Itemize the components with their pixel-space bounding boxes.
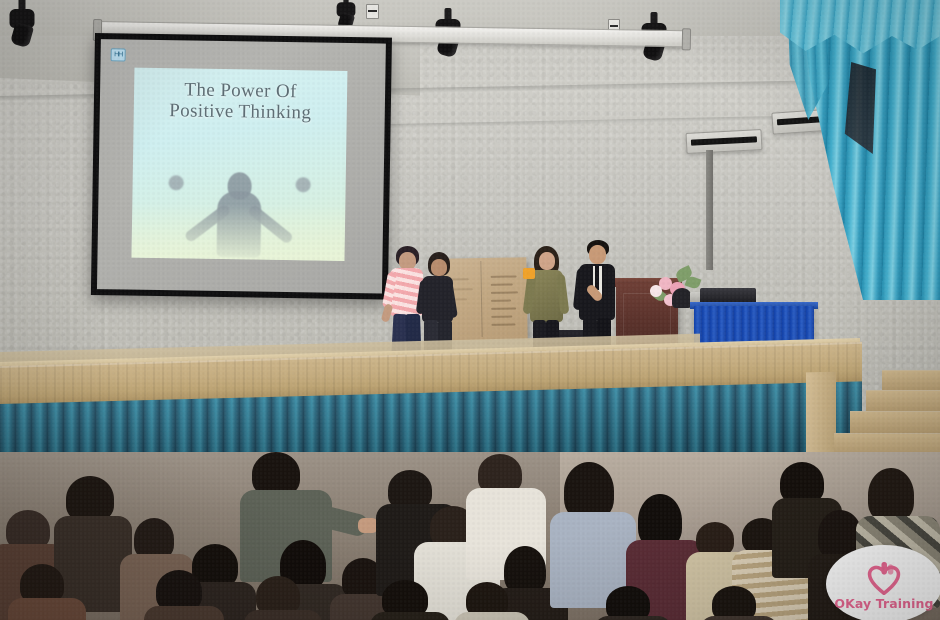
okay-training-logo-badge: OKay Training (826, 545, 940, 620)
ac-drain-pipe (706, 150, 713, 270)
presentation-slide: The Power Of Positive Thinking (131, 68, 347, 261)
seminar-photo: HH The Power Of Positive Thinking (0, 0, 940, 620)
slide-title-line-2: Positive Thinking (134, 100, 347, 124)
slide-title: The Power Of Positive Thinking (134, 79, 348, 124)
necktie (595, 266, 599, 290)
heart-hand-icon (867, 561, 901, 595)
air-conditioner-left (686, 129, 763, 154)
av-equipment-round (672, 288, 692, 308)
orange-prop (523, 268, 535, 279)
logo-text: OKay Training (834, 596, 933, 611)
audience-area (0, 452, 940, 620)
projection-screen-surface: HH The Power Of Positive Thinking (97, 39, 386, 293)
projection-screen: HH The Power Of Positive Thinking (91, 33, 392, 300)
wall-sensor-icon (366, 4, 379, 19)
screen-watermark-icon: HH (111, 48, 126, 61)
slide-haze (131, 203, 345, 261)
